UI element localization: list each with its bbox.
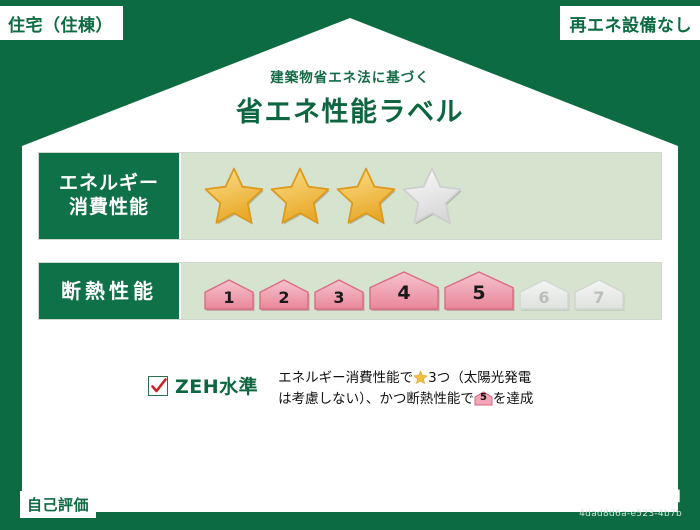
house-badge-inactive-icon [518,278,570,312]
title-main: 省エネ性能ラベル [0,90,700,129]
energy-performance-label: エネルギー 消費性能 [39,153,181,239]
energy-label-line2: 消費性能 [69,196,149,220]
footer-left: 自己評価 広島県福山市瀬戸町大字地頭分字桑元 [20,491,354,518]
energy-performance-label: 住宅（住棟） 再エネ設備なし 建築物省エネ法に基づく 省エネ性能ラベル エネルギ… [0,0,700,530]
zeh-badge: ZEH水準 [148,372,258,399]
evaluation-date: 評価日 2025年6月23日 [521,486,682,506]
star-filled-icon [203,165,265,227]
self-evaluation-badge: 自己評価 [20,491,96,518]
renewable-energy-tag: 再エネ設備なし [560,6,700,40]
house-badge-inactive-icon [573,278,625,312]
zeh-desc-line1-a: エネルギー消費性能で [278,370,413,386]
insulation-rating-body: 1234567 [181,263,661,319]
insulation-performance-row: 断熱性能 1234567 [38,262,662,320]
zeh-desc-line1-b: 3つ（太陽光発電 [428,370,531,386]
star-rating [203,165,463,227]
insulation-grade-6: 6 [518,278,570,312]
insulation-grade-4: 4 [368,270,440,312]
zeh-description: エネルギー消費性能で3つ（太陽光発電 は考慮しない）、かつ断熱性能で5を達成 [278,368,533,410]
insulation-grade-3: 3 [313,278,365,312]
star-empty-icon [401,165,463,227]
building-type-tag: 住宅（住棟） [0,6,123,40]
zeh-desc-line2-b: を達成 [493,391,534,407]
house-badge-active-icon [368,270,440,312]
insulation-grade-1: 1 [203,278,255,312]
zeh-section: ZEH水準 エネルギー消費性能で3つ（太陽光発電 は考慮しない）、かつ断熱性能で… [38,368,662,410]
inline-house-number: 5 [474,390,493,406]
energy-rating-body [181,153,661,239]
insulation-performance-label: 断熱性能 [39,263,181,319]
energy-performance-row: エネルギー 消費性能 [38,152,662,240]
zeh-label: ZEH水準 [175,372,258,399]
star-filled-icon [335,165,397,227]
star-filled-icon [269,165,331,227]
inline-house-badge-icon: 5 [474,391,493,406]
page-title: 建築物省エネ法に基づく 省エネ性能ラベル [0,66,700,129]
house-badge-active-icon [313,278,365,312]
insulation-grade-5: 5 [443,270,515,312]
insulation-grade-scale: 1234567 [203,270,625,312]
energy-label-line1: エネルギー [59,172,159,196]
house-badge-active-icon [443,270,515,312]
house-badge-active-icon [203,278,255,312]
footer-right: 評価日 2025年6月23日 4dad8d6a-e523-4b7b [521,486,682,519]
house-badge-active-icon [258,278,310,312]
property-address: 広島県福山市瀬戸町大字地頭分字桑元 [104,494,354,515]
zeh-desc-line2-a: は考慮しない）、かつ断熱性能で [278,391,474,407]
insulation-grade-7: 7 [573,278,625,312]
checkbox-checked-icon [148,376,168,396]
label-id: 4dad8d6a-e523-4b7b [521,509,682,519]
inline-star-icon [413,370,428,385]
title-subtitle: 建築物省エネ法に基づく [0,66,700,86]
insulation-grade-2: 2 [258,278,310,312]
